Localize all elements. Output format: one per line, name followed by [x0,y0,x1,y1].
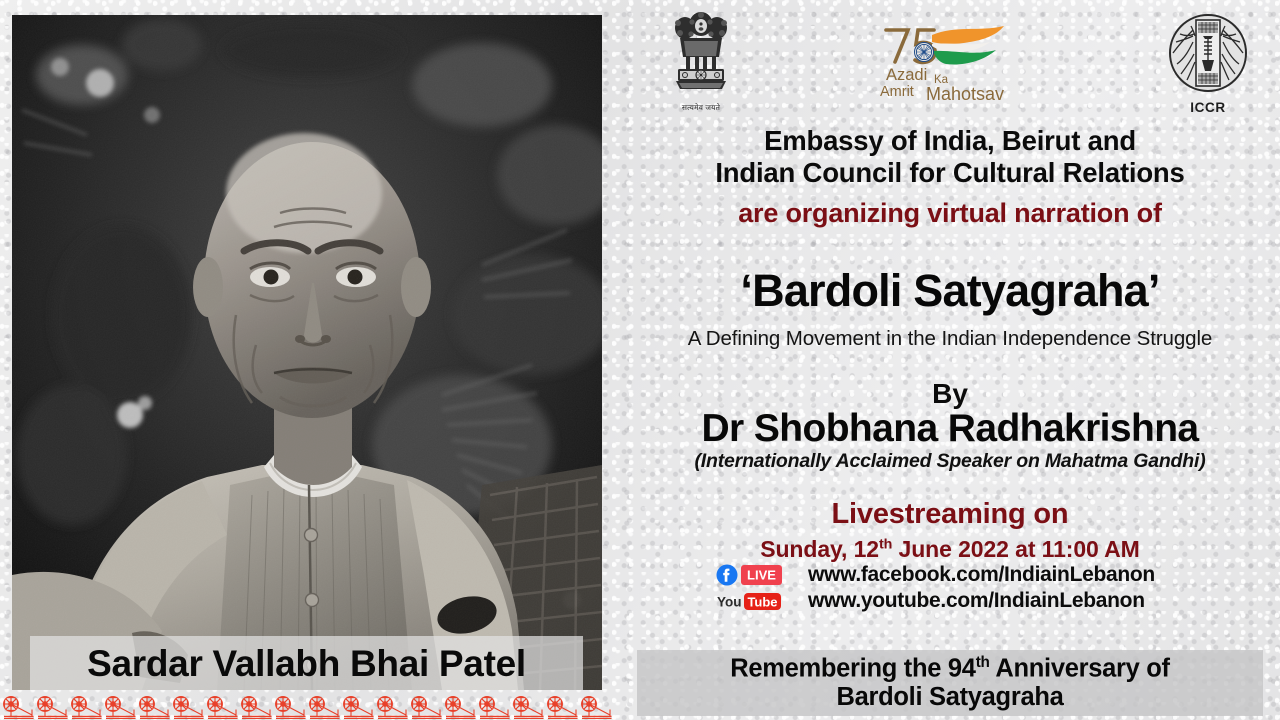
channel-facebook[interactable]: LIVE www.facebook.com/IndiainLebanon [620,562,1280,588]
facebook-live-badge-svg: LIVE [716,564,786,586]
organizer-line-3: are organizing virtual narration of [620,198,1280,228]
anniversary-line-1: Remembering the 94th Anniversary of [730,654,1169,683]
logo-row: सत्यमेव जयते [620,8,1280,118]
ashoka-emblem-svg [670,11,732,97]
channel-youtube[interactable]: You Tube www.youtube.com/IndiainLebanon [620,588,1280,614]
poster-content-column: सत्यमेव जयते [620,0,1280,720]
youtube-url[interactable]: www.youtube.com/IndiainLebanon [808,589,1145,613]
facebook-live-icon[interactable]: LIVE [716,564,788,586]
date-suffix: June 2022 at 11:00 AM [892,536,1140,562]
anniversary-ordinal: th [976,654,990,671]
svg-text:Amrit: Amrit [880,84,914,100]
anniversary-banner: Remembering the 94th Anniversary of Bard… [637,650,1263,716]
photo-caption: Sardar Vallabh Bhai Patel [30,636,583,690]
iccr-logo-svg [1167,12,1249,94]
youtube-badge-svg: You Tube [716,590,786,612]
anniversary-suffix: Anniversary of [990,655,1170,683]
iccr-label: ICCR [1165,100,1251,115]
anniversary-line-2: Bardoli Satyagraha [836,683,1063,712]
youtube-icon[interactable]: You Tube [716,590,788,612]
charkha-border-strip [0,692,620,720]
svg-text:Tube: Tube [747,594,777,609]
by-label: By [620,378,1280,410]
livestream-heading: Livestreaming on [620,498,1280,531]
facebook-url[interactable]: www.facebook.com/IndiainLebanon [808,563,1155,587]
svg-text:LIVE: LIVE [747,568,776,583]
event-poster: Sardar Vallabh Bhai Patel [0,0,1280,720]
svg-text:Mahotsav: Mahotsav [926,84,1004,104]
ashoka-lion-capital-icon: सत्यमेव जयते [668,11,734,113]
date-ordinal: th [879,536,892,552]
svg-text:You: You [717,595,742,610]
azadi-logo-svg: Azadi Ka Amrit Mahotsav [878,20,1028,104]
ashoka-emblem-motto: सत्यमेव जयते [668,103,734,113]
event-subtitle: A Defining Movement in the Indian Indepe… [620,327,1280,351]
anniversary-prefix: Remembering the 94 [730,655,975,683]
portrait-photo: Sardar Vallabh Bhai Patel [12,15,602,690]
organizer-line-2: Indian Council for Cultural Relations [620,158,1280,189]
iccr-emblem-icon: ICCR [1165,12,1251,115]
organizer-line-1: Embassy of India, Beirut and [620,126,1280,157]
livestream-datetime: Sunday, 12th June 2022 at 11:00 AM [620,536,1280,563]
charkha-spinning-wheel-icon [0,694,620,720]
livestream-channels: LIVE www.facebook.com/IndiainLebanon You… [620,562,1280,614]
speaker-credentials: (Internationally Acclaimed Speaker on Ma… [620,450,1280,473]
date-prefix: Sunday, 12 [760,536,879,562]
svg-text:Azadi: Azadi [886,66,927,84]
portrait-photo-illustration [12,15,602,690]
speaker-name: Dr Shobhana Radhakrishna [620,407,1280,451]
event-title: ‘Bardoli Satyagraha’ [620,265,1280,317]
azadi-ka-amrit-mahotsav-icon: Azadi Ka Amrit Mahotsav [878,20,1028,109]
photo-caption-text: Sardar Vallabh Bhai Patel [87,643,526,685]
